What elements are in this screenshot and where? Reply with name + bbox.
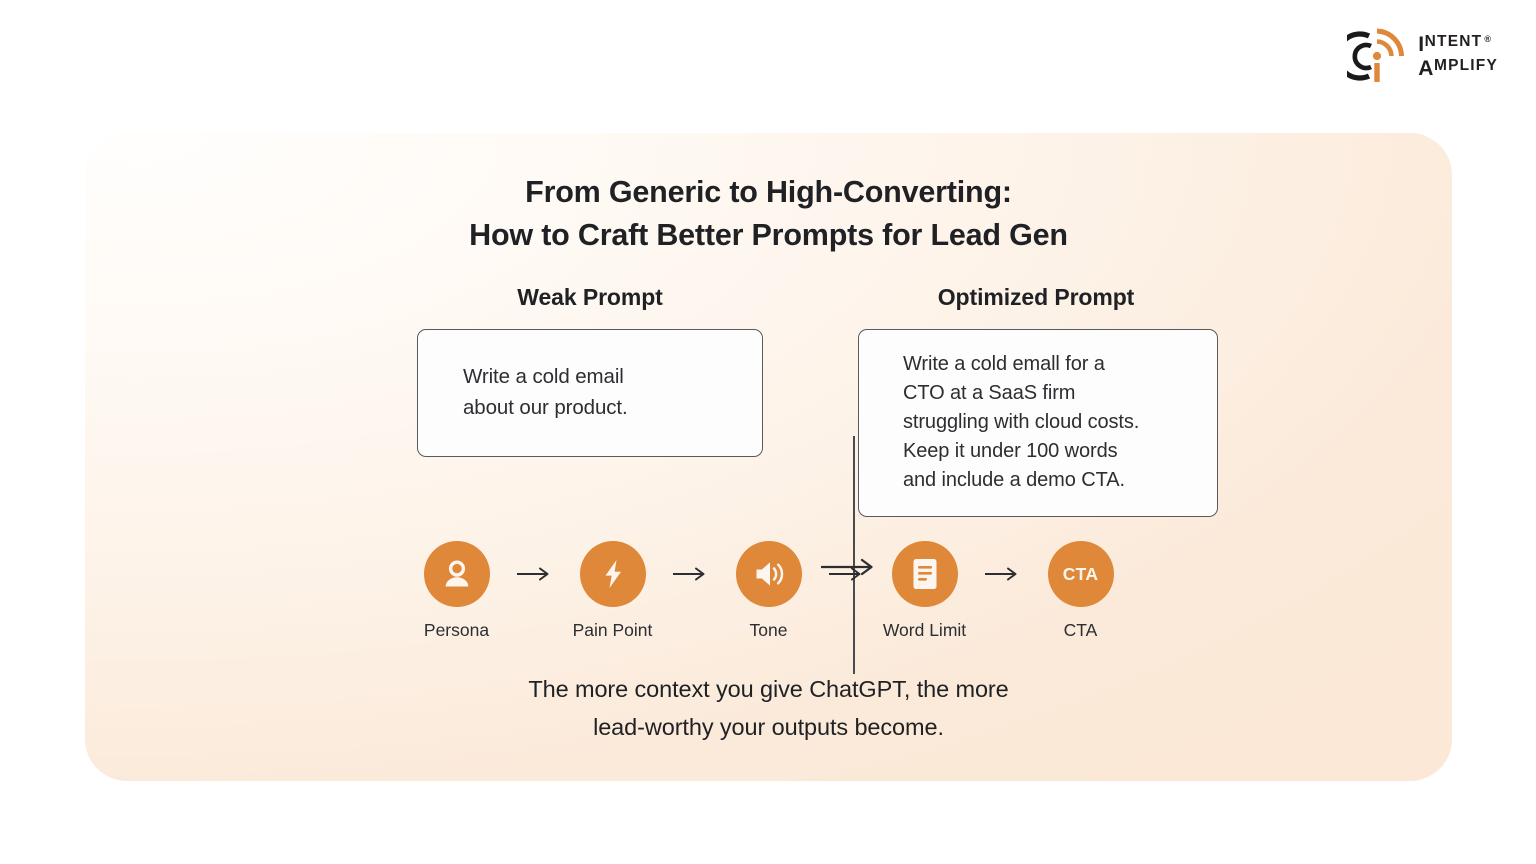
- tone-bubble: [736, 541, 802, 607]
- arrow-right-small-icon: [828, 566, 866, 582]
- optimized-prompt-column: Optimized Prompt Write a cold emall for …: [805, 284, 1235, 517]
- brand-word-amplify: AMPLIFY: [1418, 58, 1498, 79]
- prompt-comparison: Weak Prompt Write a cold email about our…: [85, 284, 1452, 532]
- infographic-card: From Generic to High-Converting: How to …: [85, 133, 1452, 781]
- chain-arrow-2: [669, 541, 713, 607]
- chain-label-tone: Tone: [750, 620, 788, 641]
- optimized-text-line-4: Keep it under 100 words: [903, 440, 1118, 462]
- optimized-prompt-heading: Optimized Prompt: [938, 284, 1134, 311]
- title-line-2: How to Craft Better Prompts for Lead Gen: [469, 214, 1068, 257]
- brand-logo: INTENT® AMPLIFY: [1347, 26, 1498, 86]
- chain-item-word-limit: Word Limit: [869, 541, 981, 641]
- chain-label-cta: CTA: [1064, 620, 1098, 641]
- cta-bubble: CTA: [1048, 541, 1114, 607]
- title-line-1: From Generic to High-Converting:: [469, 171, 1068, 214]
- pain-point-bubble: [580, 541, 646, 607]
- weak-text-line-1: Write a cold email: [463, 365, 624, 388]
- registered-trademark-symbol: ®: [1484, 35, 1491, 44]
- chain-arrow-3: [825, 541, 869, 607]
- optimized-text-line-1: Write a cold emall for a: [903, 353, 1105, 375]
- weak-prompt-heading: Weak Prompt: [517, 284, 662, 311]
- brand-amplify-rest: MPLIFY: [1434, 58, 1498, 74]
- chain-item-tone: Tone: [713, 541, 825, 641]
- chain-label-pain-point: Pain Point: [573, 620, 653, 641]
- lightning-bolt-icon: [596, 557, 630, 591]
- infographic-page: INTENT® AMPLIFY From Generic to High-Con…: [0, 0, 1536, 864]
- weak-text-line-2: about our product.: [463, 396, 628, 419]
- cta-text-icon: CTA: [1063, 564, 1099, 585]
- weak-prompt-box: Write a cold email about our product.: [417, 329, 763, 457]
- chain-label-word-limit: Word Limit: [883, 620, 966, 641]
- caption-line-1: The more context you give ChatGPT, the m…: [85, 671, 1452, 709]
- optimized-text-line-2: CTO at a SaaS firm: [903, 382, 1075, 404]
- brand-intent-rest: NTENT: [1425, 34, 1483, 50]
- optimized-prompt-box: Write a cold emall for a CTO at a SaaS f…: [858, 329, 1218, 517]
- chain-item-cta: CTA CTA: [1025, 541, 1137, 641]
- weak-prompt-text: Write a cold email about our product.: [463, 362, 628, 423]
- arrow-right-small-icon: [984, 566, 1022, 582]
- person-icon: [439, 556, 475, 592]
- brand-amplify-cap: A: [1418, 58, 1434, 79]
- prompt-ingredients-chain: Persona Pain Point: [85, 541, 1452, 641]
- page-title: From Generic to High-Converting: How to …: [469, 171, 1068, 258]
- optimized-text-line-5: and include a demo CTA.: [903, 469, 1125, 491]
- chain-item-persona: Persona: [401, 541, 513, 641]
- weak-prompt-column: Weak Prompt Write a cold email about our…: [375, 284, 805, 457]
- optimized-prompt-text: Write a cold emall for a CTO at a SaaS f…: [903, 350, 1139, 496]
- chain-arrow-1: [513, 541, 557, 607]
- arrow-right-small-icon: [516, 566, 554, 582]
- signal-waves-icon: [1347, 26, 1407, 86]
- arrow-right-small-icon: [672, 566, 710, 582]
- persona-bubble: [424, 541, 490, 607]
- optimized-text-line-3: struggling with cloud costs.: [903, 411, 1139, 433]
- chain-item-pain-point: Pain Point: [557, 541, 669, 641]
- chain-arrow-4: [981, 541, 1025, 607]
- brand-word-intent: INTENT®: [1418, 34, 1498, 55]
- brand-wordmark: INTENT® AMPLIFY: [1418, 34, 1498, 79]
- word-limit-bubble: [892, 541, 958, 607]
- caption-line-2: lead-worthy your outputs become.: [85, 709, 1452, 747]
- document-lines-icon: [909, 556, 941, 592]
- speaker-volume-icon: [751, 557, 787, 591]
- chain-label-persona: Persona: [424, 620, 489, 641]
- footer-caption: The more context you give ChatGPT, the m…: [85, 671, 1452, 746]
